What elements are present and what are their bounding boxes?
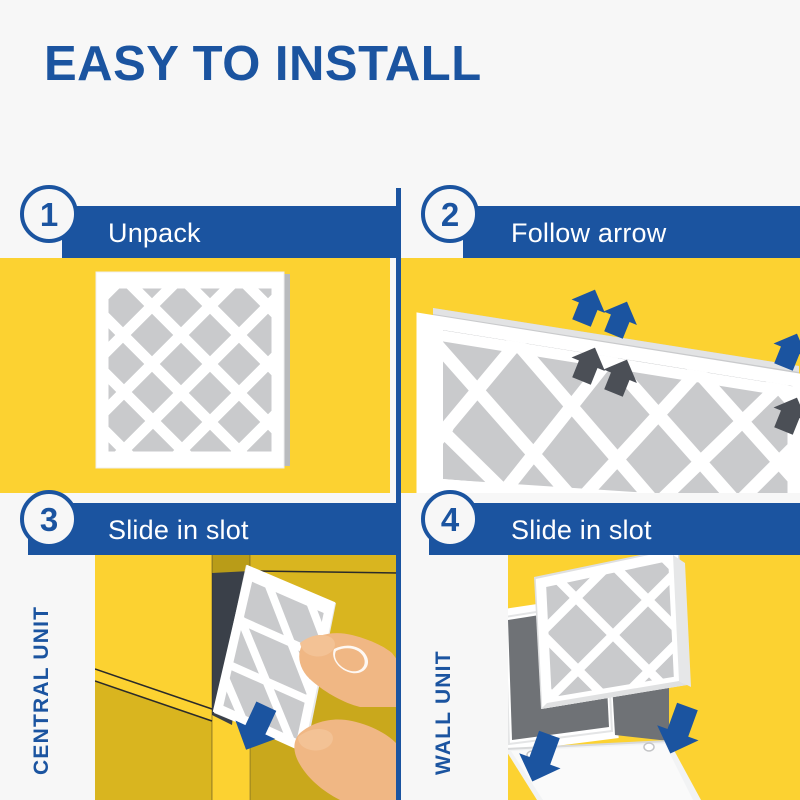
step-4-number-badge: 4: [421, 490, 479, 548]
step-1-header-label: Unpack: [108, 218, 201, 249]
step-4-number: 4: [425, 494, 475, 544]
step-4-header-label: Slide in slot: [511, 515, 652, 546]
step-3-number-badge: 3: [20, 490, 78, 548]
page-title: EASY TO INSTALL: [44, 36, 482, 92]
step-3-number: 3: [24, 494, 74, 544]
step-3-header-label: Slide in slot: [108, 515, 249, 546]
step-1-number: 1: [24, 189, 74, 239]
step-2-header-label: Follow arrow: [511, 218, 666, 249]
step-1-number-badge: 1: [20, 185, 78, 243]
step-4-side-label: WALL UNIT: [432, 650, 456, 775]
step-2-number-badge: 2: [421, 185, 479, 243]
infographic-root: EASY TO INSTALL: [0, 0, 800, 800]
step-2-number: 2: [425, 189, 475, 239]
step-3-side-label: CENTRAL UNIT: [30, 606, 54, 775]
